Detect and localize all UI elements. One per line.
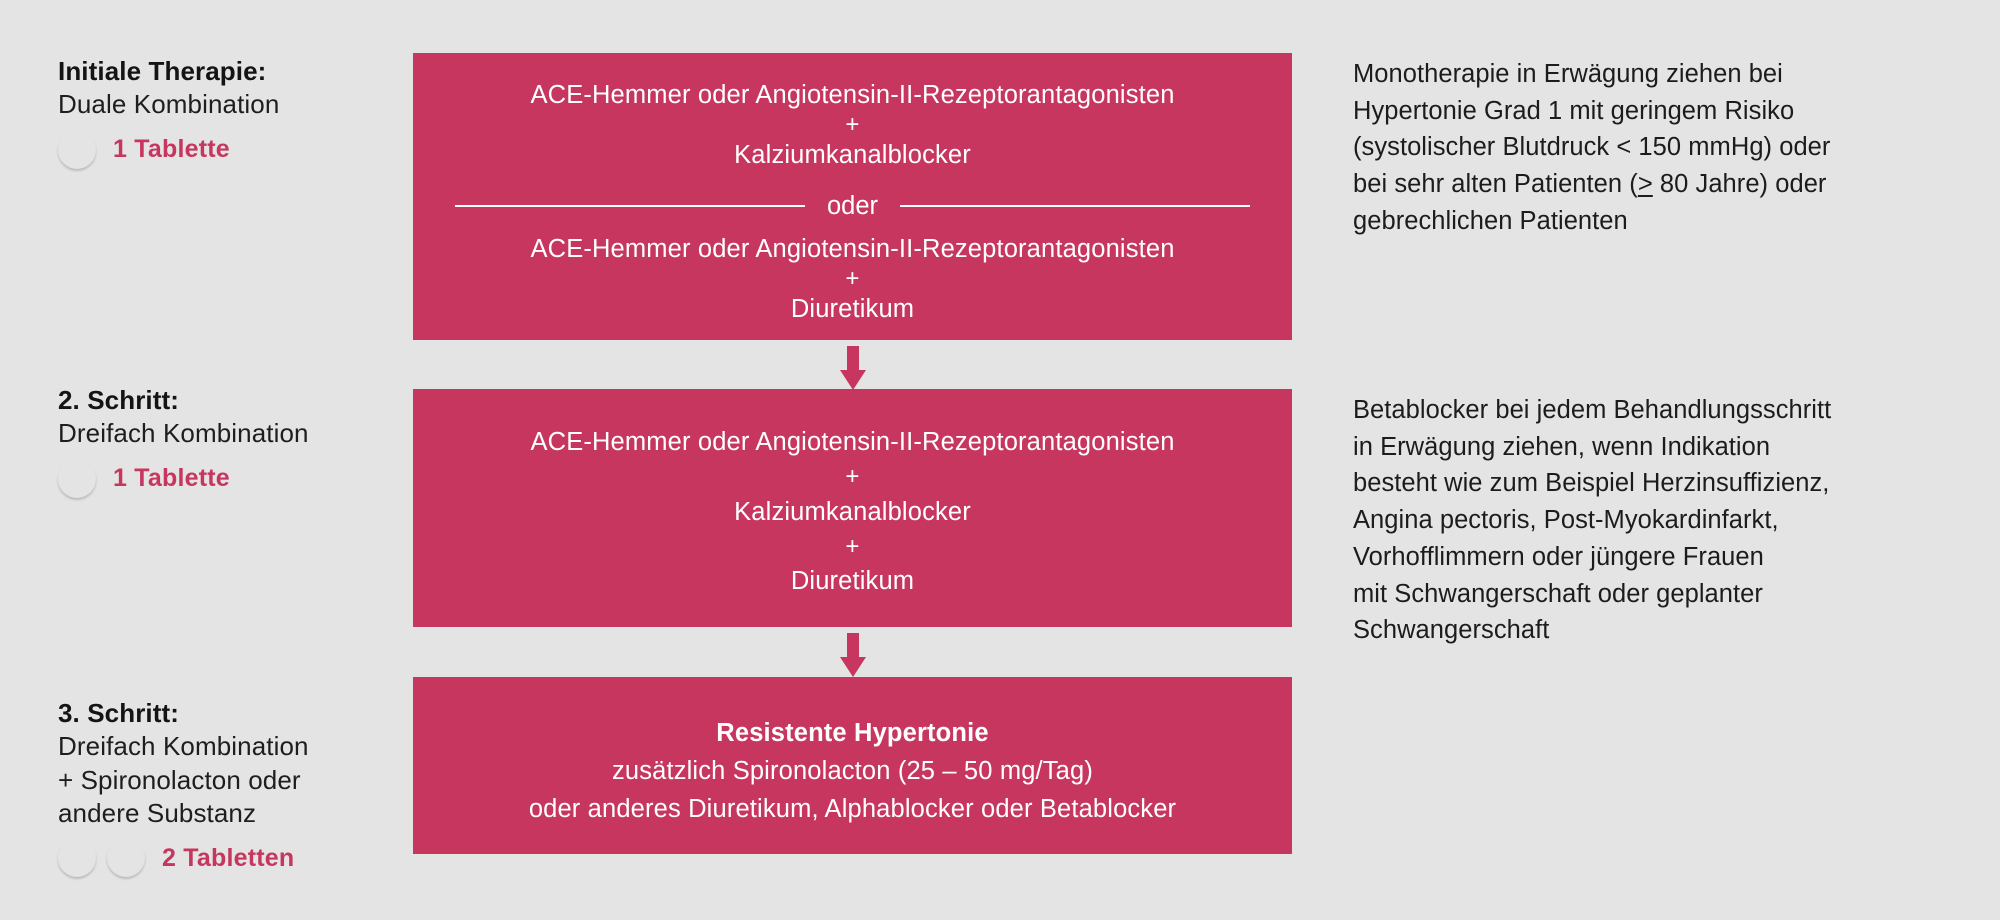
note-line: Monotherapie in Erwägung ziehen bei bbox=[1353, 56, 1953, 93]
step-1-title: Initiale Therapie: bbox=[58, 55, 388, 88]
step-1-box-line-4: Diuretikum bbox=[413, 293, 1292, 326]
arrow-shaft bbox=[847, 346, 859, 372]
note-line: Schwangerschaft bbox=[1353, 612, 1953, 649]
tablet-icon bbox=[58, 839, 96, 877]
step-2-tablet-row: 1 Tablette bbox=[58, 460, 388, 498]
step-1-treatment-box: ACE-Hemmer oder Angiotensin-II-Rezeptora… bbox=[413, 53, 1292, 340]
note-line: gebrechlichen Patienten bbox=[1353, 203, 1953, 240]
step-3-treatment-box: Resistente Hypertonie zusätzlich Spirono… bbox=[413, 677, 1292, 854]
note-line: bei sehr alten Patienten (> 80 Jahre) od… bbox=[1353, 166, 1953, 203]
greater-equal-symbol: > bbox=[1638, 170, 1653, 198]
step-2-note: Betablocker bei jedem Behandlungsschritt… bbox=[1353, 392, 1953, 649]
step-1-subtitle: Duale Kombination bbox=[58, 88, 388, 121]
step-2-treatment-box: ACE-Hemmer oder Angiotensin-II-Rezeptora… bbox=[413, 389, 1292, 627]
note-line: mit Schwangerschaft oder geplanter bbox=[1353, 576, 1953, 613]
arrow-step2-to-step3-icon bbox=[840, 633, 866, 677]
therapy-algorithm-diagram: Initiale Therapie: Duale Kombination 1 T… bbox=[0, 0, 2000, 920]
step-1-tablet-row: 1 Tablette bbox=[58, 131, 388, 169]
step-2-box-line-3: Diuretikum bbox=[413, 565, 1292, 598]
tablet-icon bbox=[107, 839, 145, 877]
note-line: in Erwägung ziehen, wenn Indikation bbox=[1353, 429, 1953, 466]
tablet-icon bbox=[58, 460, 96, 498]
step-2-title: 2. Schritt: bbox=[58, 384, 388, 417]
step-3-subtitle-line-3: andere Substanz bbox=[58, 797, 388, 830]
step-2-box-plus-2: + bbox=[413, 534, 1292, 560]
step-1-box-line-3: ACE-Hemmer oder Angiotensin-II-Rezeptora… bbox=[413, 233, 1292, 266]
arrow-shaft bbox=[847, 633, 859, 659]
step-3-box-line-1: zusätzlich Spironolacton (25 – 50 mg/Tag… bbox=[413, 755, 1292, 788]
arrow-step1-to-step2-icon bbox=[840, 346, 866, 390]
note-line: (systolischer Blutdruck < 150 mmHg) oder bbox=[1353, 129, 1953, 166]
divider-rule-right bbox=[900, 205, 1250, 207]
note-line: Betablocker bei jedem Behandlungsschritt bbox=[1353, 392, 1953, 429]
step-2-subtitle: Dreifach Kombination bbox=[58, 417, 388, 450]
step-3-subtitle-line-2: + Spironolacton oder bbox=[58, 764, 388, 797]
note-line: Angina pectoris, Post-Myokardinfarkt, bbox=[1353, 502, 1953, 539]
step-1-tablets-label: 1 Tablette bbox=[113, 135, 230, 164]
note-line: Vorhofflimmern oder jüngere Frauen bbox=[1353, 539, 1953, 576]
step-1-box-plus-1: + bbox=[413, 112, 1292, 138]
note-line: Hypertonie Grad 1 mit geringem Risiko bbox=[1353, 93, 1953, 130]
tablet-icon bbox=[58, 131, 96, 169]
step-3-title: 3. Schritt: bbox=[58, 697, 388, 730]
step-1-oder-label: oder bbox=[805, 194, 900, 220]
step-3-box-heading: Resistente Hypertonie bbox=[413, 717, 1292, 750]
arrow-head bbox=[840, 370, 866, 390]
step-3-tablets-label: 2 Tabletten bbox=[162, 844, 294, 873]
step-2-box-line-2: Kalziumkanalblocker bbox=[413, 496, 1292, 529]
step-1-box-plus-2: + bbox=[413, 266, 1292, 292]
step-1-oder-divider: oder bbox=[455, 194, 1250, 220]
step-1-label-block: Initiale Therapie: Duale Kombination 1 T… bbox=[58, 55, 388, 169]
note-line: besteht wie zum Beispiel Herzinsuffizien… bbox=[1353, 465, 1953, 502]
step-1-box-line-2: Kalziumkanalblocker bbox=[413, 139, 1292, 172]
step-2-label-block: 2. Schritt: Dreifach Kombination 1 Table… bbox=[58, 384, 388, 498]
divider-rule-left bbox=[455, 205, 805, 207]
step-2-box-line-1: ACE-Hemmer oder Angiotensin-II-Rezeptora… bbox=[413, 426, 1292, 459]
step-3-box-line-2: oder anderes Diuretikum, Alphablocker od… bbox=[413, 793, 1292, 826]
step-2-box-plus-1: + bbox=[413, 464, 1292, 490]
arrow-head bbox=[840, 657, 866, 677]
step-3-label-block: 3. Schritt: Dreifach Kombination + Spiro… bbox=[58, 697, 388, 877]
step-1-box-line-1: ACE-Hemmer oder Angiotensin-II-Rezeptora… bbox=[413, 79, 1292, 112]
step-2-tablets-label: 1 Tablette bbox=[113, 464, 230, 493]
step-1-note: Monotherapie in Erwägung ziehen bei Hype… bbox=[1353, 56, 1953, 240]
step-3-tablet-row: 2 Tabletten bbox=[58, 839, 388, 877]
step-3-subtitle-line-1: Dreifach Kombination bbox=[58, 730, 388, 763]
